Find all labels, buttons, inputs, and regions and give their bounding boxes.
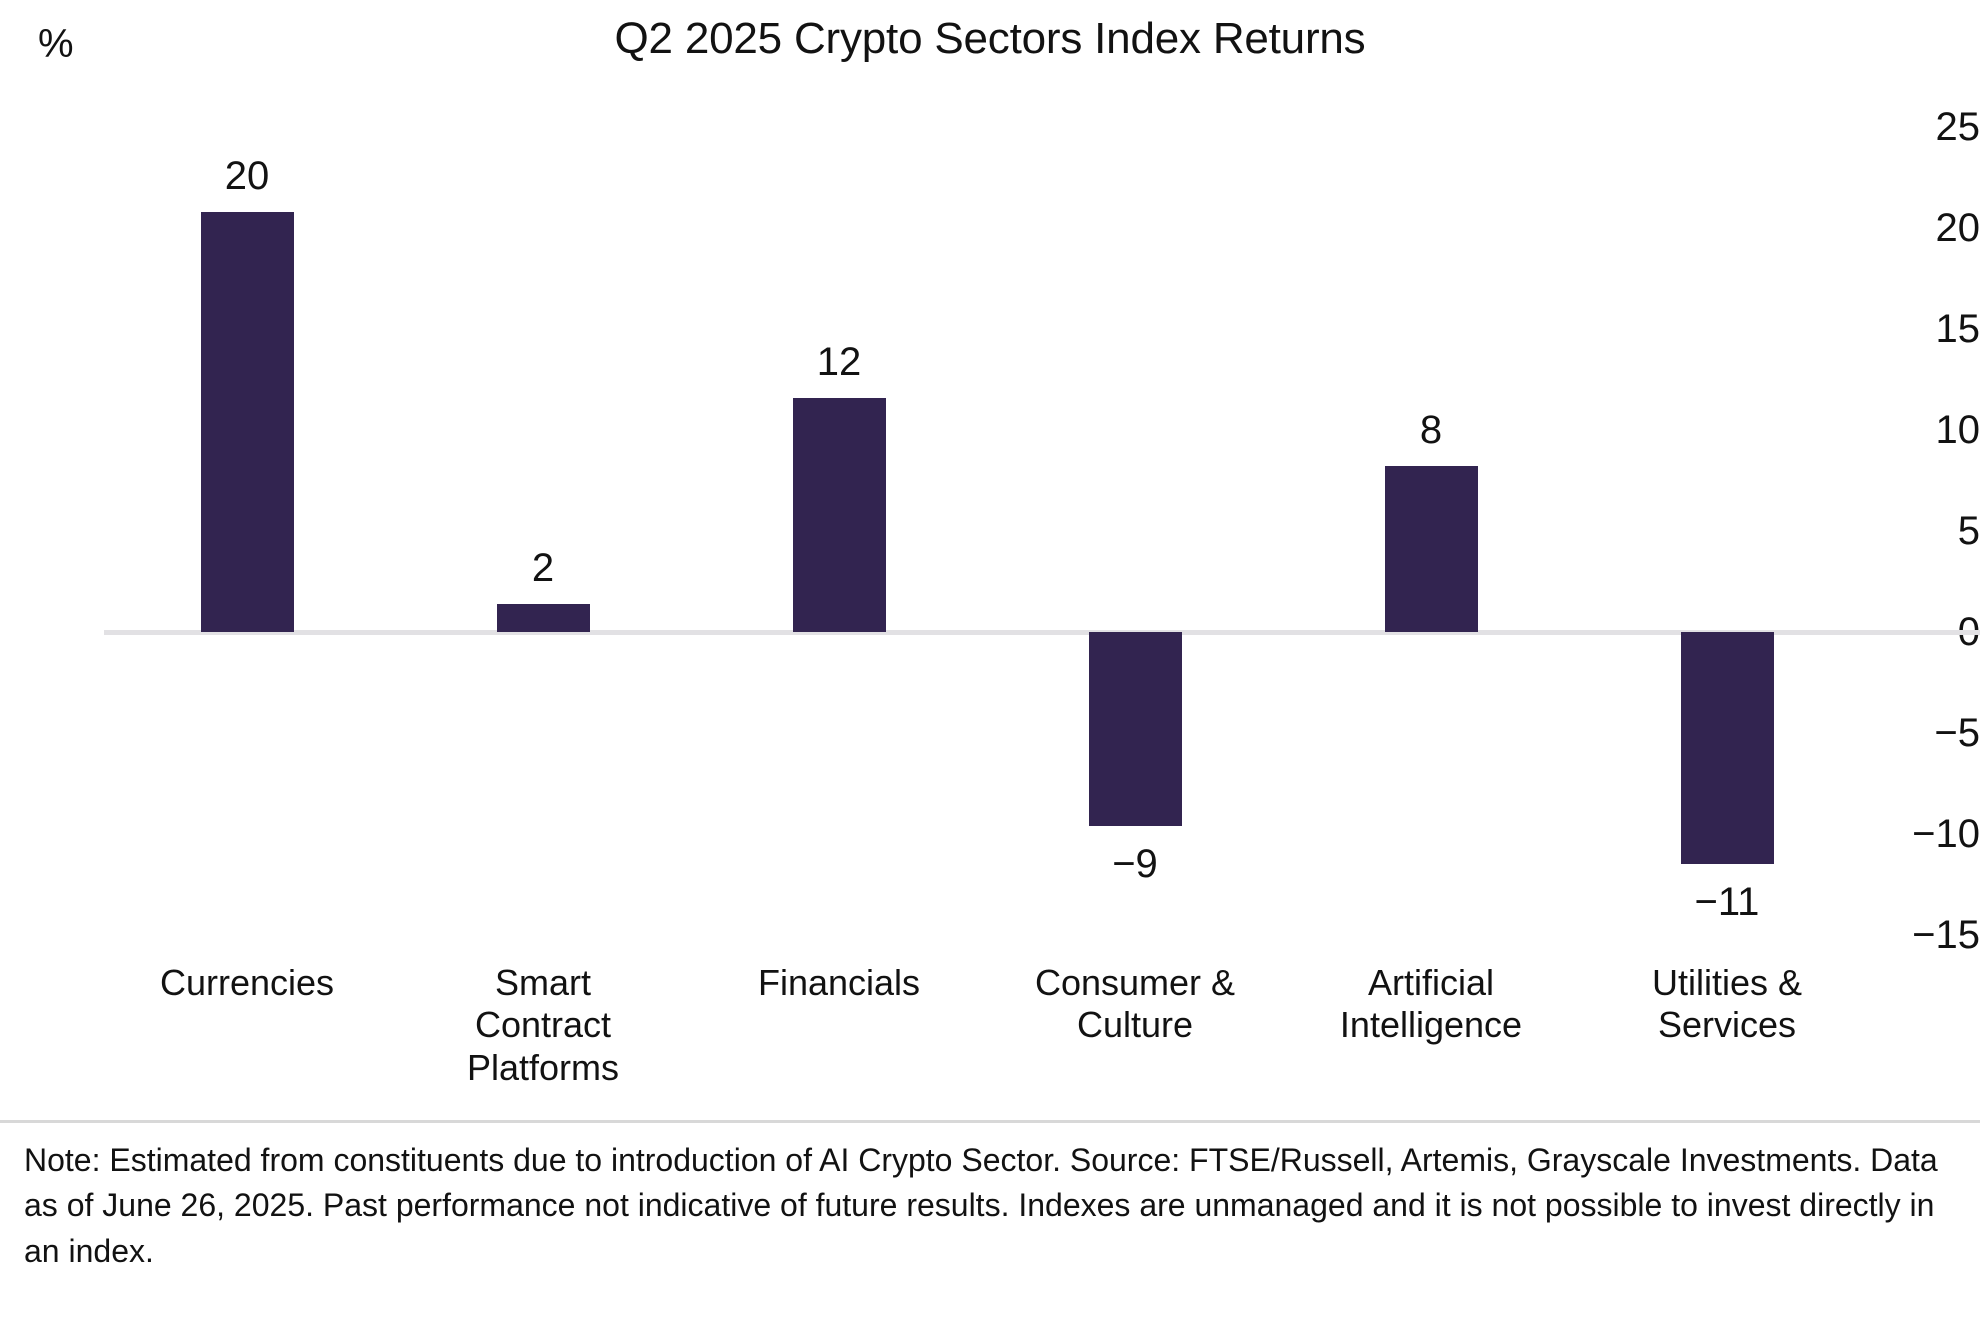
x-axis-label-4: Artificial Intelligence [1283,962,1579,1047]
y-axis-unit-label: % [38,22,74,67]
x-axis-label-5: Utilities & Services [1579,962,1875,1047]
bar-3[interactable] [1089,632,1182,826]
y-axis-tick-25: 25 [1878,107,1980,147]
footnote-text: Note: Estimated from constituents due to… [24,1138,1964,1274]
bar-value-label-2: 12 [719,342,959,382]
bar-value-label-3: −9 [1015,844,1255,884]
bar-value-label-5: −11 [1607,882,1847,922]
y-axis-tick-neg5: −5 [1878,713,1980,753]
y-axis-tick-5: 5 [1878,511,1980,551]
y-axis-tick-20: 20 [1878,208,1980,248]
x-axis-label-3: Consumer & Culture [987,962,1283,1047]
bar-2[interactable] [793,398,886,632]
y-axis-tick-10: 10 [1878,410,1980,450]
x-axis-label-1: Smart Contract Platforms [395,962,691,1089]
plot-area: % 2520151050−5−10−15 20212−98−11 Currenc… [0,0,1980,1100]
bar-4[interactable] [1385,466,1478,632]
bar-0[interactable] [201,212,294,632]
bar-value-label-4: 8 [1311,410,1551,450]
y-axis-tick-neg15: −15 [1878,915,1980,955]
chart-page: Q2 2025 Crypto Sectors Index Returns % 2… [0,0,1980,1321]
bar-value-label-0: 20 [127,156,367,196]
y-axis-tick-15: 15 [1878,309,1980,349]
bar-value-label-1: 2 [423,548,663,588]
footnote-divider [0,1120,1980,1123]
bar-5[interactable] [1681,632,1774,864]
x-axis-label-0: Currencies [99,962,395,1004]
bar-1[interactable] [497,604,590,632]
y-axis-tick-neg10: −10 [1878,814,1980,854]
x-axis-label-2: Financials [691,962,987,1004]
